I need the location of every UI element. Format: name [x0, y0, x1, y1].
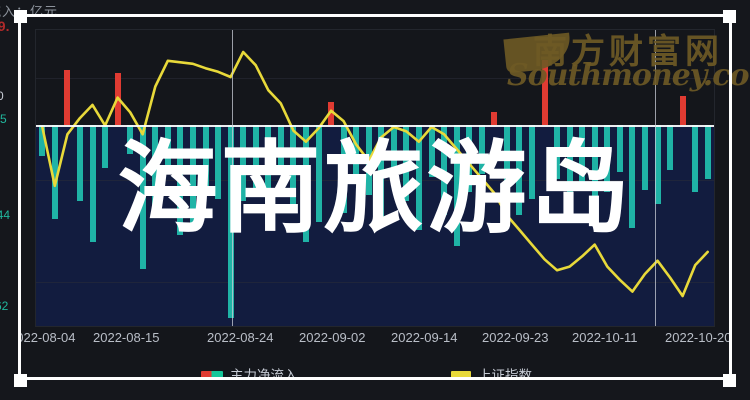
overlay-headline-text: 海南旅游岛 [118, 139, 633, 239]
selection-handle-bottom-right[interactable] [723, 374, 736, 387]
x-tick-label: 2022-10-20 [665, 330, 729, 345]
x-tick-label: 2022-10-11 [572, 330, 638, 345]
overlay-headline: 海南旅游岛 [0, 133, 750, 245]
x-tick-label: 2022-09-02 [299, 330, 366, 345]
zero-axis-line [36, 125, 714, 127]
y-tick-label: 62 [0, 299, 8, 313]
y-tick-label: 0 [0, 89, 4, 103]
chart-legend: 主力净流入 上证指数 [21, 362, 729, 377]
selection-handle-top-left[interactable] [14, 10, 27, 23]
legend-item-shanghai-index[interactable]: 上证指数 [451, 364, 532, 377]
selection-handle-bottom-left[interactable] [14, 374, 27, 387]
legend-item-main-net-inflow[interactable]: 主力净流入 [201, 364, 298, 377]
x-tick-label: 2022-08-24 [207, 330, 274, 345]
legend-swatch-yellow-icon [451, 371, 471, 378]
legend-swatch-red-green-icon [201, 371, 223, 378]
x-tick-label: 2022-08-15 [93, 330, 160, 345]
x-tick-label: 2022-09-14 [391, 330, 458, 345]
y-tick-label: .25 [0, 112, 7, 126]
x-axis: 2022-08-04 2022-08-15 2022-08-24 2022-09… [21, 330, 729, 352]
x-tick-label: 2022-08-04 [21, 330, 76, 345]
selection-handle-top-right[interactable] [723, 10, 736, 23]
x-tick-label: 2022-09-23 [482, 330, 549, 345]
header-value: 39. [0, 18, 9, 34]
legend-label: 上证指数 [478, 364, 532, 377]
screenshot-root: 流入：亿元 39. 2022-08-04 2022-08-15 2022-08-… [0, 0, 750, 400]
legend-label: 主力净流入 [230, 364, 298, 377]
